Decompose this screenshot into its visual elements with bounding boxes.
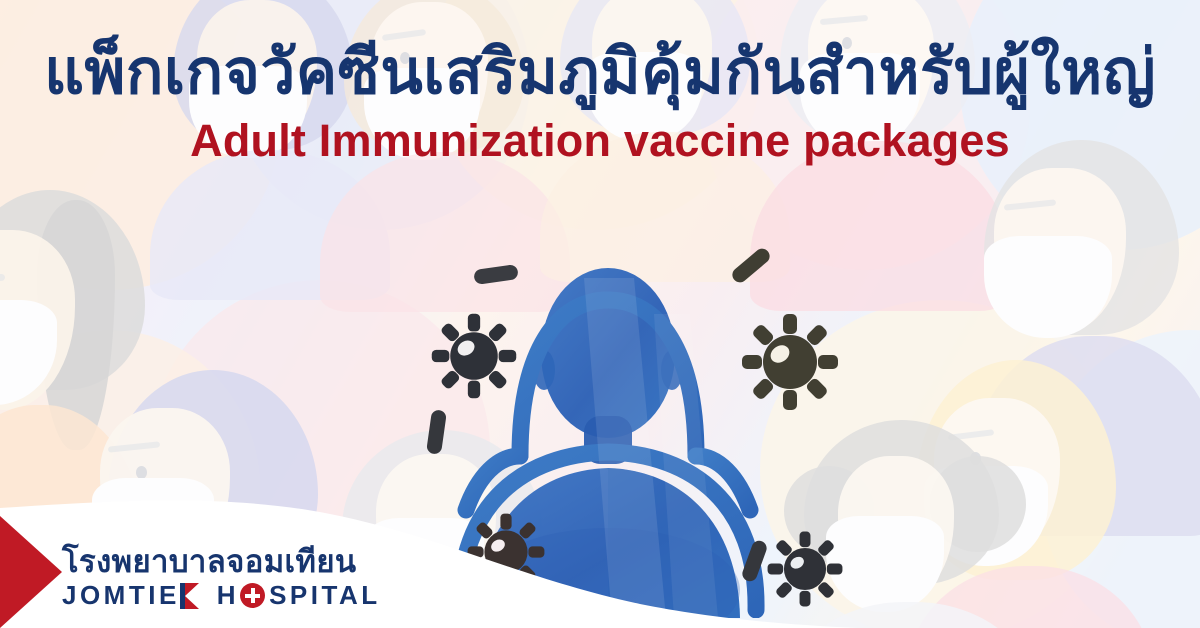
- logo-text-jomtie: JOMTIE: [62, 581, 180, 610]
- headline-block: แพ็กเกจวัคซีนเสริมภูมิคุ้มกันสำหรับผู้ให…: [0, 40, 1200, 164]
- hospital-logo[interactable]: โรงพยาบาลจอมเทียน JOMTIEHSPITAL: [62, 544, 381, 610]
- hospital-name-thai: โรงพยาบาลจอมเทียน: [62, 544, 381, 580]
- logo-text-spital: SPITAL: [269, 581, 381, 610]
- flag-n-icon: [180, 583, 201, 609]
- headline-thai: แพ็กเกจวัคซีนเสริมภูมิคุ้มกันสำหรับผู้ให…: [0, 40, 1200, 105]
- logo-text-h: H: [217, 581, 239, 610]
- vaccine-promo-banner: แพ็กเกจวัคซีนเสริมภูมิคุ้มกันสำหรับผู้ให…: [0, 0, 1200, 628]
- virus-icon-left-upper: [430, 312, 518, 400]
- medical-cross-icon: [240, 583, 265, 608]
- hospital-name-english: JOMTIEHSPITAL: [62, 581, 381, 610]
- virus-icon-right-upper: [740, 312, 840, 412]
- headline-english: Adult Immunization vaccine packages: [0, 117, 1200, 164]
